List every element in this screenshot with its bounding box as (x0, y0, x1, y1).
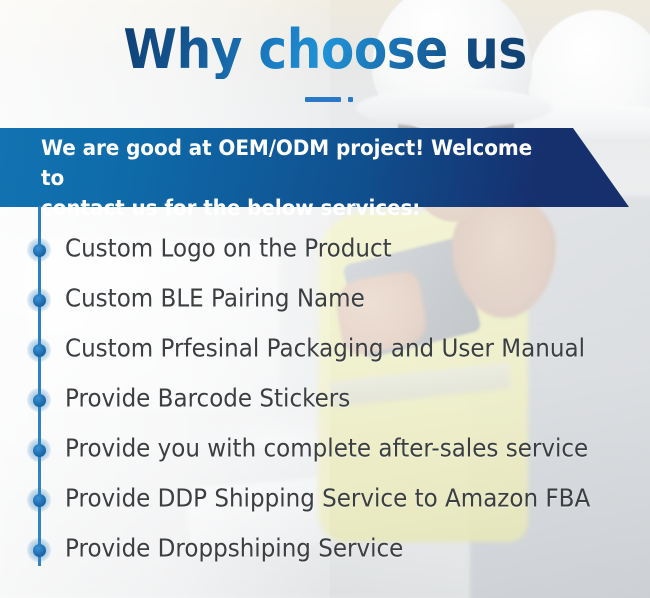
list-item-label: Custom BLE Pairing Name (65, 286, 365, 313)
list-item[interactable]: Provide Droppshiping Service (0, 524, 650, 574)
bullet-dot-icon (33, 544, 46, 557)
service-list: Custom Logo on the ProductCustom BLE Pai… (0, 0, 650, 598)
list-item-label: Provide Barcode Stickers (65, 386, 350, 413)
list-item-label: Provide you with complete after-sales se… (65, 436, 588, 463)
list-item[interactable]: Custom Logo on the Product (0, 224, 650, 274)
list-item-label: Custom Logo on the Product (65, 236, 392, 263)
list-item-label: Custom Prfesinal Packaging and User Manu… (65, 336, 585, 363)
bullet-dot-icon (33, 444, 46, 457)
bullet-dot-icon (33, 394, 46, 407)
why-choose-us-graphic: Why choose us We are good at OEM/ODM pro… (0, 0, 650, 598)
bullet-dot-icon (33, 344, 46, 357)
bullet-dot-icon (33, 494, 46, 507)
list-item-label: Provide DDP Shipping Service to Amazon F… (65, 486, 590, 513)
bullet-dot-icon (33, 294, 46, 307)
list-item[interactable]: Provide Barcode Stickers (0, 374, 650, 424)
list-item[interactable]: Custom Prfesinal Packaging and User Manu… (0, 324, 650, 374)
list-item[interactable]: Provide you with complete after-sales se… (0, 424, 650, 474)
list-item[interactable]: Provide DDP Shipping Service to Amazon F… (0, 474, 650, 524)
list-item-label: Provide Droppshiping Service (65, 536, 403, 563)
list-item[interactable]: Custom BLE Pairing Name (0, 274, 650, 324)
bullet-dot-icon (33, 244, 46, 257)
